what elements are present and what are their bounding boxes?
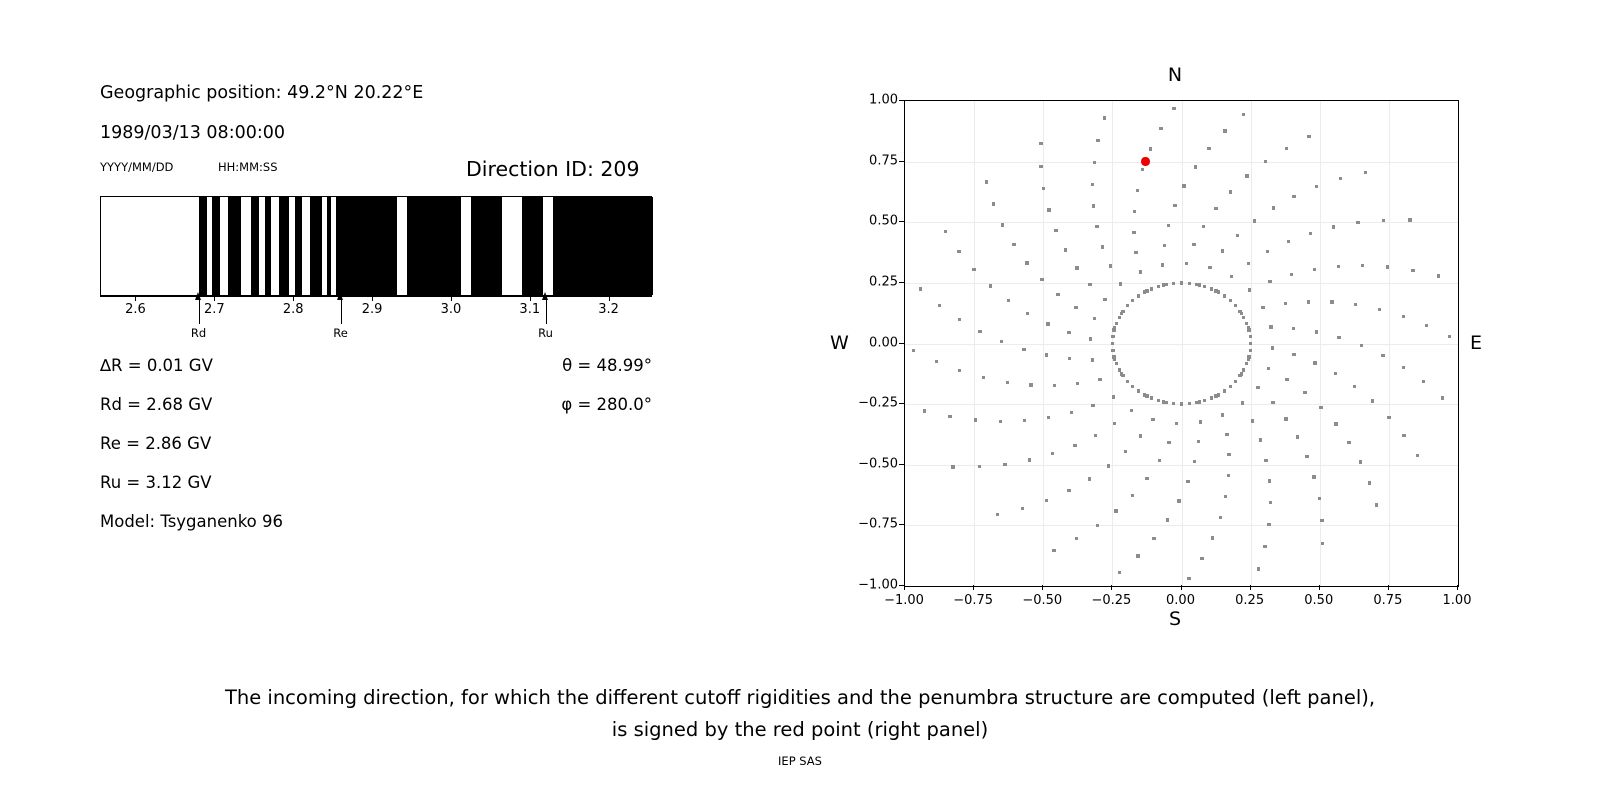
sky-map-plot-area — [904, 100, 1459, 587]
sky-map-point — [1023, 419, 1026, 422]
sky-map-point — [978, 465, 981, 468]
sky-map-point — [1356, 221, 1359, 224]
sky-map-point — [1347, 441, 1350, 444]
selected-direction-marker[interactable] — [1141, 157, 1149, 165]
datetime-label: 1989/03/13 08:00:00 — [100, 123, 285, 143]
sky-map-point — [982, 376, 985, 379]
sky-map-point — [1261, 306, 1264, 309]
sky-map-point — [1217, 393, 1220, 396]
sky-map-point — [1172, 282, 1175, 285]
penumbra-forbidden-band — [522, 197, 543, 295]
sky-map-point — [1236, 234, 1239, 237]
sky-map-point — [1210, 287, 1213, 290]
sky-map-point — [1229, 299, 1232, 302]
param-phi: φ = 280.0° — [561, 395, 652, 414]
sky-map-point — [1296, 435, 1299, 438]
sky-map-point — [1221, 413, 1224, 416]
sky-map-point — [1339, 177, 1342, 180]
sky-map-point — [1248, 288, 1251, 291]
sky-map-point — [1247, 262, 1250, 265]
penumbra-panel: Geographic position: 49.2°N 20.22°E 1989… — [0, 0, 760, 660]
sky-map-point — [1408, 218, 1411, 221]
penumbra-forbidden-band — [251, 197, 259, 295]
sky-map-point — [1092, 204, 1095, 207]
sky-map-point — [1180, 281, 1183, 284]
sky-map-point — [1003, 463, 1006, 466]
sky-map-point — [1115, 362, 1118, 365]
sky-map-point — [1353, 385, 1356, 388]
sky-map-point — [1227, 474, 1230, 477]
figure-footer: IEP SAS — [0, 754, 1600, 768]
y-axis-tick-label: −0.25 — [820, 396, 898, 411]
sky-map-point — [1264, 459, 1267, 462]
sky-map-point — [1242, 368, 1245, 371]
sky-map-point — [958, 369, 961, 372]
sky-map-point — [1214, 207, 1217, 210]
penumbra-forbidden-band — [199, 197, 207, 295]
sky-map-point — [1093, 161, 1096, 164]
sky-map-point — [1114, 509, 1117, 512]
axis-tick-label: 3.0 — [441, 302, 462, 317]
sky-map-point — [1091, 183, 1094, 186]
sky-map-point — [1109, 264, 1112, 267]
axis-tick-label: 2.7 — [204, 302, 225, 317]
sky-map-point — [1292, 327, 1295, 330]
sky-map-point — [1029, 383, 1032, 386]
geographic-position-label: Geographic position: 49.2°N 20.22°E — [100, 83, 423, 103]
x-axis-tick-label: 1.00 — [1443, 593, 1472, 608]
sky-map-point — [1150, 287, 1153, 290]
sky-map-point — [1195, 401, 1198, 404]
sky-map-point — [912, 349, 915, 352]
sky-map-point — [1112, 355, 1115, 358]
sky-map-point — [1200, 557, 1203, 560]
sky-map-point — [1368, 481, 1371, 484]
sky-map-point — [989, 284, 992, 287]
sky-map-point — [1375, 503, 1378, 506]
sky-map-point — [1130, 409, 1133, 412]
sky-map-point — [1313, 361, 1316, 364]
sky-map-point — [1242, 316, 1245, 319]
param-rd: Rd = 2.68 GV — [100, 395, 212, 414]
sky-map-point — [1268, 479, 1271, 482]
sky-map-point — [985, 180, 988, 183]
y-axis-tick-mark — [899, 403, 904, 404]
sky-map-point — [1028, 458, 1031, 461]
y-axis-tick-label: 1.00 — [820, 93, 898, 108]
sky-map-point — [1245, 174, 1248, 177]
grid-line-horizontal — [905, 162, 1458, 163]
cutoff-marker-label: Ru — [538, 326, 553, 340]
sky-map-point — [1045, 353, 1048, 356]
sky-map-point — [1095, 225, 1098, 228]
sky-map-point — [1284, 302, 1287, 305]
sky-map-point — [1091, 404, 1094, 407]
sky-map-point — [1223, 389, 1226, 392]
sky-map-point — [1075, 537, 1078, 540]
sky-map-point — [1266, 250, 1269, 253]
sky-map-point — [1021, 507, 1024, 510]
sky-map-point — [1131, 299, 1134, 302]
sky-map-point — [974, 418, 977, 421]
sky-map-point — [1118, 316, 1121, 319]
time-format-label: HH:MM:SS — [218, 160, 278, 174]
sky-map-point — [1054, 229, 1057, 232]
y-axis-tick-label: 0.25 — [820, 274, 898, 289]
sky-map-point — [1334, 372, 1337, 375]
caption-line-1: The incoming direction, for which the di… — [0, 682, 1600, 714]
y-axis-tick-mark — [899, 464, 904, 465]
sky-map-point — [1131, 385, 1134, 388]
y-axis-tick-label: −0.75 — [820, 517, 898, 532]
sky-map-point — [1075, 266, 1078, 269]
sky-map-point — [1149, 147, 1152, 150]
sky-map-point — [1229, 190, 1232, 193]
y-axis-tick-mark — [899, 161, 904, 162]
sky-map-point — [1402, 366, 1405, 369]
sky-map-point — [1217, 290, 1220, 293]
cutoff-marker-label: Re — [333, 326, 348, 340]
y-axis-tick-mark — [899, 343, 904, 344]
sky-map-point — [1247, 355, 1250, 358]
sky-map-point — [1136, 554, 1139, 557]
x-axis-tick-mark — [1042, 585, 1043, 590]
sky-map-point — [1249, 342, 1252, 345]
sky-map-point — [1354, 303, 1357, 306]
axis-tick-label: 2.6 — [125, 302, 146, 317]
sky-map-point — [1321, 542, 1324, 545]
sky-map-point — [992, 202, 995, 205]
sky-map-point — [1242, 113, 1245, 116]
sky-map-point — [1382, 219, 1385, 222]
sky-map-point — [1234, 304, 1237, 307]
sky-map-point — [1158, 459, 1161, 462]
sky-map-point — [1022, 348, 1025, 351]
axis-tick-mark — [214, 296, 215, 301]
sky-map-point — [1143, 290, 1146, 293]
sky-map-point — [1107, 464, 1110, 467]
sky-map-point — [1319, 406, 1322, 409]
sky-map-point — [935, 360, 938, 363]
sky-map-point — [958, 318, 961, 321]
penumbra-forbidden-band — [212, 197, 220, 295]
axis-tick-label: 3.2 — [598, 302, 619, 317]
sky-map-point — [1364, 171, 1367, 174]
x-axis-tick-mark — [1181, 585, 1182, 590]
sky-map-point — [1210, 396, 1213, 399]
x-axis-tick-label: 0.75 — [1373, 593, 1402, 608]
sky-map-point — [1053, 384, 1056, 387]
sky-map-point — [1411, 269, 1414, 272]
sky-map-point — [1241, 401, 1244, 404]
sky-map-point — [1337, 336, 1340, 339]
sky-map-point — [1157, 285, 1160, 288]
sky-map-point — [1330, 300, 1333, 303]
compass-south-label: S — [1169, 608, 1181, 630]
x-axis-tick-label: 0.00 — [1166, 593, 1195, 608]
sky-map-point — [1137, 389, 1140, 392]
sky-map-point — [1285, 147, 1288, 150]
sky-map-point — [1303, 391, 1306, 394]
penumbra-forbidden-band — [279, 197, 289, 295]
x-axis-tick-label: −0.75 — [953, 593, 993, 608]
sky-map-point — [1137, 294, 1140, 297]
y-axis-tick-label: −1.00 — [820, 578, 898, 593]
sky-map-point — [1150, 396, 1153, 399]
sky-map-point — [1448, 335, 1451, 338]
sky-map-point — [1167, 224, 1170, 227]
sky-map-point — [1387, 416, 1390, 419]
direction-id-label: Direction ID: 209 — [466, 157, 640, 181]
sky-map-point — [1268, 280, 1271, 283]
sky-map-point — [1173, 204, 1176, 207]
sky-map-point — [1223, 129, 1226, 132]
sky-map-point — [1245, 322, 1248, 325]
sky-map-point — [1118, 571, 1121, 574]
sky-map-point — [1211, 536, 1214, 539]
sky-map-point — [1422, 380, 1425, 383]
sky-map-point — [1026, 312, 1029, 315]
sky-map-point — [1234, 380, 1237, 383]
sky-map-point — [1068, 357, 1071, 360]
sky-map-point — [1111, 335, 1114, 338]
sky-map-point — [1259, 438, 1262, 441]
sky-map-point — [1290, 273, 1293, 276]
axis-tick-mark — [135, 296, 136, 301]
sky-map-point — [1159, 127, 1162, 130]
sky-map-point — [1381, 354, 1384, 357]
sky-map-point — [1133, 210, 1136, 213]
sky-map-point — [999, 420, 1002, 423]
sky-map-point — [1257, 567, 1260, 570]
sky-map-point — [1151, 418, 1154, 421]
arrow-shaft — [341, 298, 342, 324]
sky-map-point — [1292, 195, 1295, 198]
sky-map-point — [1047, 208, 1050, 211]
sky-map-point — [1307, 300, 1310, 303]
sky-map-point — [1112, 395, 1115, 398]
arrow-shaft — [199, 298, 200, 324]
sky-map-point — [1245, 362, 1248, 365]
caption-line-2: is signed by the red point (right panel) — [0, 714, 1600, 746]
sky-map-point — [1094, 434, 1097, 437]
penumbra-forbidden-band — [336, 197, 397, 295]
sky-map-point — [1000, 340, 1003, 343]
sky-map-point — [1143, 393, 1146, 396]
x-axis-tick-mark — [1457, 585, 1458, 590]
sky-map-point — [1088, 283, 1091, 286]
sky-map-point — [1047, 416, 1050, 419]
sky-map-point — [1208, 266, 1211, 269]
sky-map-point — [1185, 262, 1188, 265]
penumbra-forbidden-band — [553, 197, 653, 295]
sky-map-point — [1172, 402, 1175, 405]
sky-map-point — [1074, 306, 1077, 309]
sky-map-panel: N S W E −1.00−0.75−0.50−0.250.000.250.50… — [820, 40, 1520, 660]
penumbra-band-chart — [100, 196, 652, 296]
sky-map-point — [1131, 494, 1134, 497]
sky-map-point — [1167, 441, 1170, 444]
sky-map-point — [1227, 453, 1230, 456]
x-axis-tick-label: 0.25 — [1235, 593, 1264, 608]
param-theta: θ = 48.99° — [562, 356, 652, 375]
sky-map-point — [1247, 328, 1250, 331]
param-model: Model: Tsyganenko 96 — [100, 512, 283, 531]
y-axis-tick-mark — [899, 524, 904, 525]
sky-map-point — [1284, 417, 1287, 420]
sky-map-point — [1249, 349, 1252, 352]
sky-map-point — [972, 268, 975, 271]
sky-map-point — [1103, 298, 1106, 301]
x-axis-tick-mark — [1250, 585, 1251, 590]
sky-map-point — [1182, 184, 1185, 187]
sky-map-point — [1307, 135, 1310, 138]
sky-map-point — [1124, 450, 1127, 453]
compass-north-label: N — [1168, 64, 1182, 86]
sky-map-point — [1134, 251, 1137, 254]
x-axis-tick-label: −1.00 — [884, 593, 924, 608]
sky-map-point — [1267, 367, 1270, 370]
grid-line-horizontal — [905, 222, 1458, 223]
y-axis-tick-label: 0.75 — [820, 153, 898, 168]
sky-map-point — [1045, 499, 1048, 502]
sky-map-point — [1425, 324, 1428, 327]
sky-map-point — [1207, 147, 1210, 150]
sky-map-point — [1378, 308, 1381, 311]
sky-map-point — [1313, 268, 1316, 271]
sky-map-point — [1251, 419, 1254, 422]
sky-map-point — [1007, 299, 1010, 302]
sky-map-point — [1202, 225, 1205, 228]
sky-map-point — [1359, 460, 1362, 463]
sky-map-point — [1073, 444, 1076, 447]
sky-map-point — [1318, 497, 1321, 500]
penumbra-axis-line — [100, 296, 652, 297]
sky-map-point — [1163, 244, 1166, 247]
date-format-label: YYYY/MM/DD — [100, 160, 173, 174]
sky-map-point — [1012, 243, 1015, 246]
sky-map-point — [957, 250, 960, 253]
sky-map-point — [1315, 185, 1318, 188]
sky-map-point — [1101, 245, 1104, 248]
sky-map-point — [1161, 263, 1164, 266]
sky-map-point — [1203, 399, 1206, 402]
sky-map-point — [1136, 189, 1139, 192]
x-axis-tick-mark — [1388, 585, 1389, 590]
axis-tick-mark — [293, 296, 294, 301]
axis-tick-mark — [609, 296, 610, 301]
penumbra-forbidden-band — [471, 197, 502, 295]
grid-line-horizontal — [905, 465, 1458, 466]
sky-map-point — [944, 230, 947, 233]
sky-map-point — [923, 409, 926, 412]
sky-map-point — [1064, 248, 1067, 251]
sky-map-point — [1360, 344, 1363, 347]
sky-map-point — [1264, 160, 1267, 163]
figure-root: Geographic position: 49.2°N 20.22°E 1989… — [0, 0, 1600, 800]
sky-map-point — [1271, 401, 1274, 404]
sky-map-point — [1315, 330, 1318, 333]
sky-map-point — [1441, 396, 1444, 399]
arrow-shaft — [546, 298, 547, 324]
sky-map-point — [1139, 270, 1142, 273]
sky-map-point — [1256, 386, 1259, 389]
x-axis-tick-mark — [1111, 585, 1112, 590]
sky-map-point — [1121, 310, 1124, 313]
sky-map-point — [1253, 219, 1256, 222]
grid-line-horizontal — [905, 525, 1458, 526]
sky-map-point — [1157, 399, 1160, 402]
sky-map-point — [1126, 380, 1129, 383]
sky-map-point — [1332, 225, 1335, 228]
sky-map-point — [1337, 265, 1340, 268]
sky-map-point — [1361, 264, 1364, 267]
compass-east-label: E — [1470, 332, 1482, 354]
sky-map-point — [1088, 477, 1091, 480]
sky-map-point — [1186, 480, 1189, 483]
sky-map-point — [1056, 293, 1059, 296]
sky-map-point — [1292, 353, 1295, 356]
sky-map-point — [1141, 168, 1144, 171]
sky-map-point — [1309, 232, 1312, 235]
sky-map-point — [1203, 285, 1206, 288]
sky-map-point — [1145, 477, 1148, 480]
sky-map-point — [1119, 282, 1122, 285]
axis-tick-mark — [530, 296, 531, 301]
sky-map-point — [1199, 420, 1202, 423]
sky-map-point — [1039, 165, 1042, 168]
sky-map-point — [1180, 402, 1183, 405]
sky-map-point — [1132, 231, 1135, 234]
sky-map-point — [1139, 434, 1142, 437]
sky-map-point — [1111, 349, 1114, 352]
y-axis-tick-label: 0.00 — [820, 335, 898, 350]
sky-map-point — [996, 513, 999, 516]
sky-map-point — [1051, 452, 1054, 455]
sky-map-point — [1164, 401, 1167, 404]
sky-map-point — [1194, 165, 1197, 168]
sky-map-point — [1177, 499, 1180, 502]
sky-map-point — [1267, 523, 1270, 526]
sky-map-point — [1187, 577, 1190, 580]
sky-map-point — [1112, 328, 1115, 331]
sky-map-point — [1192, 243, 1195, 246]
penumbra-forbidden-band — [407, 197, 461, 295]
axis-tick-mark — [451, 296, 452, 301]
sky-map-point — [1193, 460, 1196, 463]
sky-map-point — [1039, 142, 1042, 145]
sky-map-point — [1040, 278, 1043, 281]
sky-map-point — [1164, 283, 1167, 286]
sky-map-point — [1126, 304, 1129, 307]
sky-map-point — [1334, 422, 1337, 425]
sky-map-point — [1238, 374, 1241, 377]
sky-map-point — [948, 415, 951, 418]
sky-map-point — [1067, 331, 1070, 334]
axis-tick-label: 2.9 — [362, 302, 383, 317]
param-ru: Ru = 3.12 GV — [100, 473, 212, 492]
x-axis-tick-label: −0.25 — [1091, 593, 1131, 608]
sky-map-point — [1249, 335, 1252, 338]
sky-map-point — [1096, 524, 1099, 527]
sky-map-point — [1001, 223, 1004, 226]
figure-caption: The incoming direction, for which the di… — [0, 682, 1600, 746]
sky-map-point — [1091, 358, 1094, 361]
sky-map-point — [1312, 475, 1315, 478]
sky-map-point — [1118, 368, 1121, 371]
sky-map-point — [1188, 282, 1191, 285]
y-axis-tick-mark — [899, 221, 904, 222]
